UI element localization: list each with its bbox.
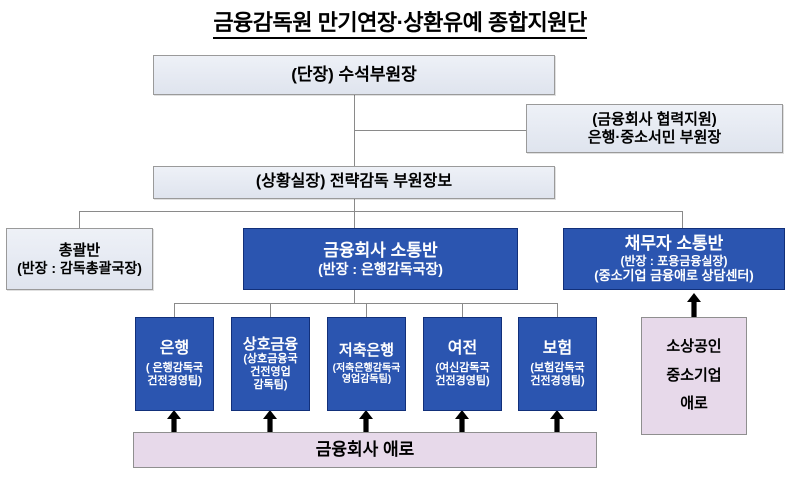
node-cooperation-support[interactable]: (금융회사 협력지원) 은행·중소서민 부원장: [526, 104, 783, 153]
node-subteam-credit-finance[interactable]: 여전 (여신감독국 건전경영팀): [423, 317, 502, 411]
node-subteam-bank-line2: ( 은행감독국: [146, 362, 203, 375]
node-subteam-savings-line1: 저축은행: [339, 342, 394, 360]
node-subteam-bank[interactable]: 은행 ( 은행감독국 건전경영팀): [135, 317, 214, 411]
node-subteam-savings-line3: 영업감독팀): [342, 374, 391, 386]
node-subteam-mutual-finance[interactable]: 상호금융 (상호금융국 건전영업 감독팀): [231, 317, 310, 411]
node-debtor-communication-team[interactable]: 채무자 소통반 (반장 : 포용금융실장) (중소기업 금융애로 상담센터): [563, 228, 785, 290]
up-arrow-icon: [167, 410, 181, 434]
node-sme-issue-line1: 소상공인: [666, 333, 721, 362]
page-title-text: 금융감독원 만기연장·상환유예 종합지원단: [213, 10, 586, 39]
node-subteam-insurance[interactable]: 보험 (보험감독국 건전경영팀): [518, 317, 597, 411]
connector-bus-to-subteam-2: [366, 303, 367, 317]
node-sme-issue-line3: 애로: [680, 390, 708, 419]
node-subteam-insurance-line3: 건전경영팀): [530, 375, 584, 388]
node-debtor-comm-line2: (반장 : 포용금융실장): [621, 254, 728, 268]
page-title: 금융감독원 만기연장·상환유예 종합지원단: [0, 8, 800, 38]
node-subteam-insurance-line1: 보험: [543, 340, 572, 359]
connector-finance-comm-stem: [354, 290, 355, 304]
node-leader[interactable]: (단장) 수석부원장: [153, 55, 555, 95]
connector-bus-to-debtor-comm-team: [682, 211, 683, 228]
node-finance-comm-line1: 금융회사 소통반: [323, 241, 437, 261]
node-finance-issue[interactable]: 금융회사 애로: [133, 432, 597, 468]
connector-bus-to-general-team: [79, 211, 80, 228]
node-leader-line1: (단장) 수석부원장: [291, 65, 417, 85]
node-situation-line1: (상황실장) 전략감독 부원장보: [256, 173, 452, 192]
node-situation-room[interactable]: (상황실장) 전략감독 부원장보: [153, 166, 555, 199]
node-subteam-bank-line3: 건전경영팀): [147, 375, 201, 388]
node-general-team-line1: 총괄반: [59, 242, 100, 260]
node-general-team-line2: (반장 : 감독총괄국장): [17, 260, 142, 277]
node-general-team[interactable]: 총괄반 (반장 : 감독총괄국장): [6, 228, 153, 290]
node-cooperation-line1: (금융회사 협력지원): [592, 111, 717, 129]
connector-team-bus: [79, 211, 682, 212]
node-subteam-savings-bank[interactable]: 저축은행 (저축은행감독국 영업감독팀): [327, 317, 406, 411]
up-arrow-icon: [455, 410, 469, 434]
up-arrow-icon: [263, 410, 277, 434]
node-subteam-mutual-line4: 감독팀): [253, 379, 287, 392]
node-sme-issue[interactable]: 소상공인 중소기업 애로: [641, 317, 747, 435]
connector-bus-to-subteam-3: [462, 303, 463, 317]
connector-bus-to-finance-comm-team: [354, 211, 355, 228]
connector-leader-to-cooperation: [354, 130, 526, 131]
node-subteam-savings-line2: (저축은행감독국: [333, 363, 401, 375]
node-subteam-credit-line3: 건전경영팀): [435, 375, 489, 388]
node-debtor-comm-line3: (중소기업 금융애로 상담센터): [594, 268, 753, 283]
connector-bus-to-subteam-1: [270, 303, 271, 317]
node-finance-comm-line2: (반장 : 은행감독국장): [318, 261, 443, 278]
node-subteam-mutual-line3: 건전영업: [250, 366, 290, 379]
node-subteam-bank-line1: 은행: [160, 340, 189, 359]
up-arrow-icon: [550, 410, 564, 434]
node-sme-issue-line2: 중소기업: [666, 362, 721, 391]
node-finance-communication-team[interactable]: 금융회사 소통반 (반장 : 은행감독국장): [243, 228, 518, 290]
node-debtor-comm-line1: 채무자 소통반: [625, 234, 724, 254]
connector-bus-to-subteam-0: [174, 303, 175, 317]
node-subteam-credit-line2: (여신감독국: [435, 362, 489, 375]
node-subteam-mutual-line1: 상호금융: [243, 336, 298, 354]
node-subteam-insurance-line2: (보험감독국: [530, 362, 584, 375]
up-arrow-icon: [687, 293, 701, 317]
node-finance-issue-line1: 금융회사 애로: [316, 440, 415, 460]
connector-bus-to-subteam-4: [557, 303, 558, 317]
node-cooperation-line2: 은행·중소서민 부원장: [588, 129, 721, 147]
node-subteam-credit-line1: 여전: [448, 340, 477, 359]
org-chart: 금융감독원 만기연장·상환유예 종합지원단 (단장) 수석부원장 (금융회사 협…: [0, 0, 800, 479]
up-arrow-icon: [359, 410, 373, 434]
node-subteam-mutual-line2: (상호금융국: [243, 353, 297, 366]
